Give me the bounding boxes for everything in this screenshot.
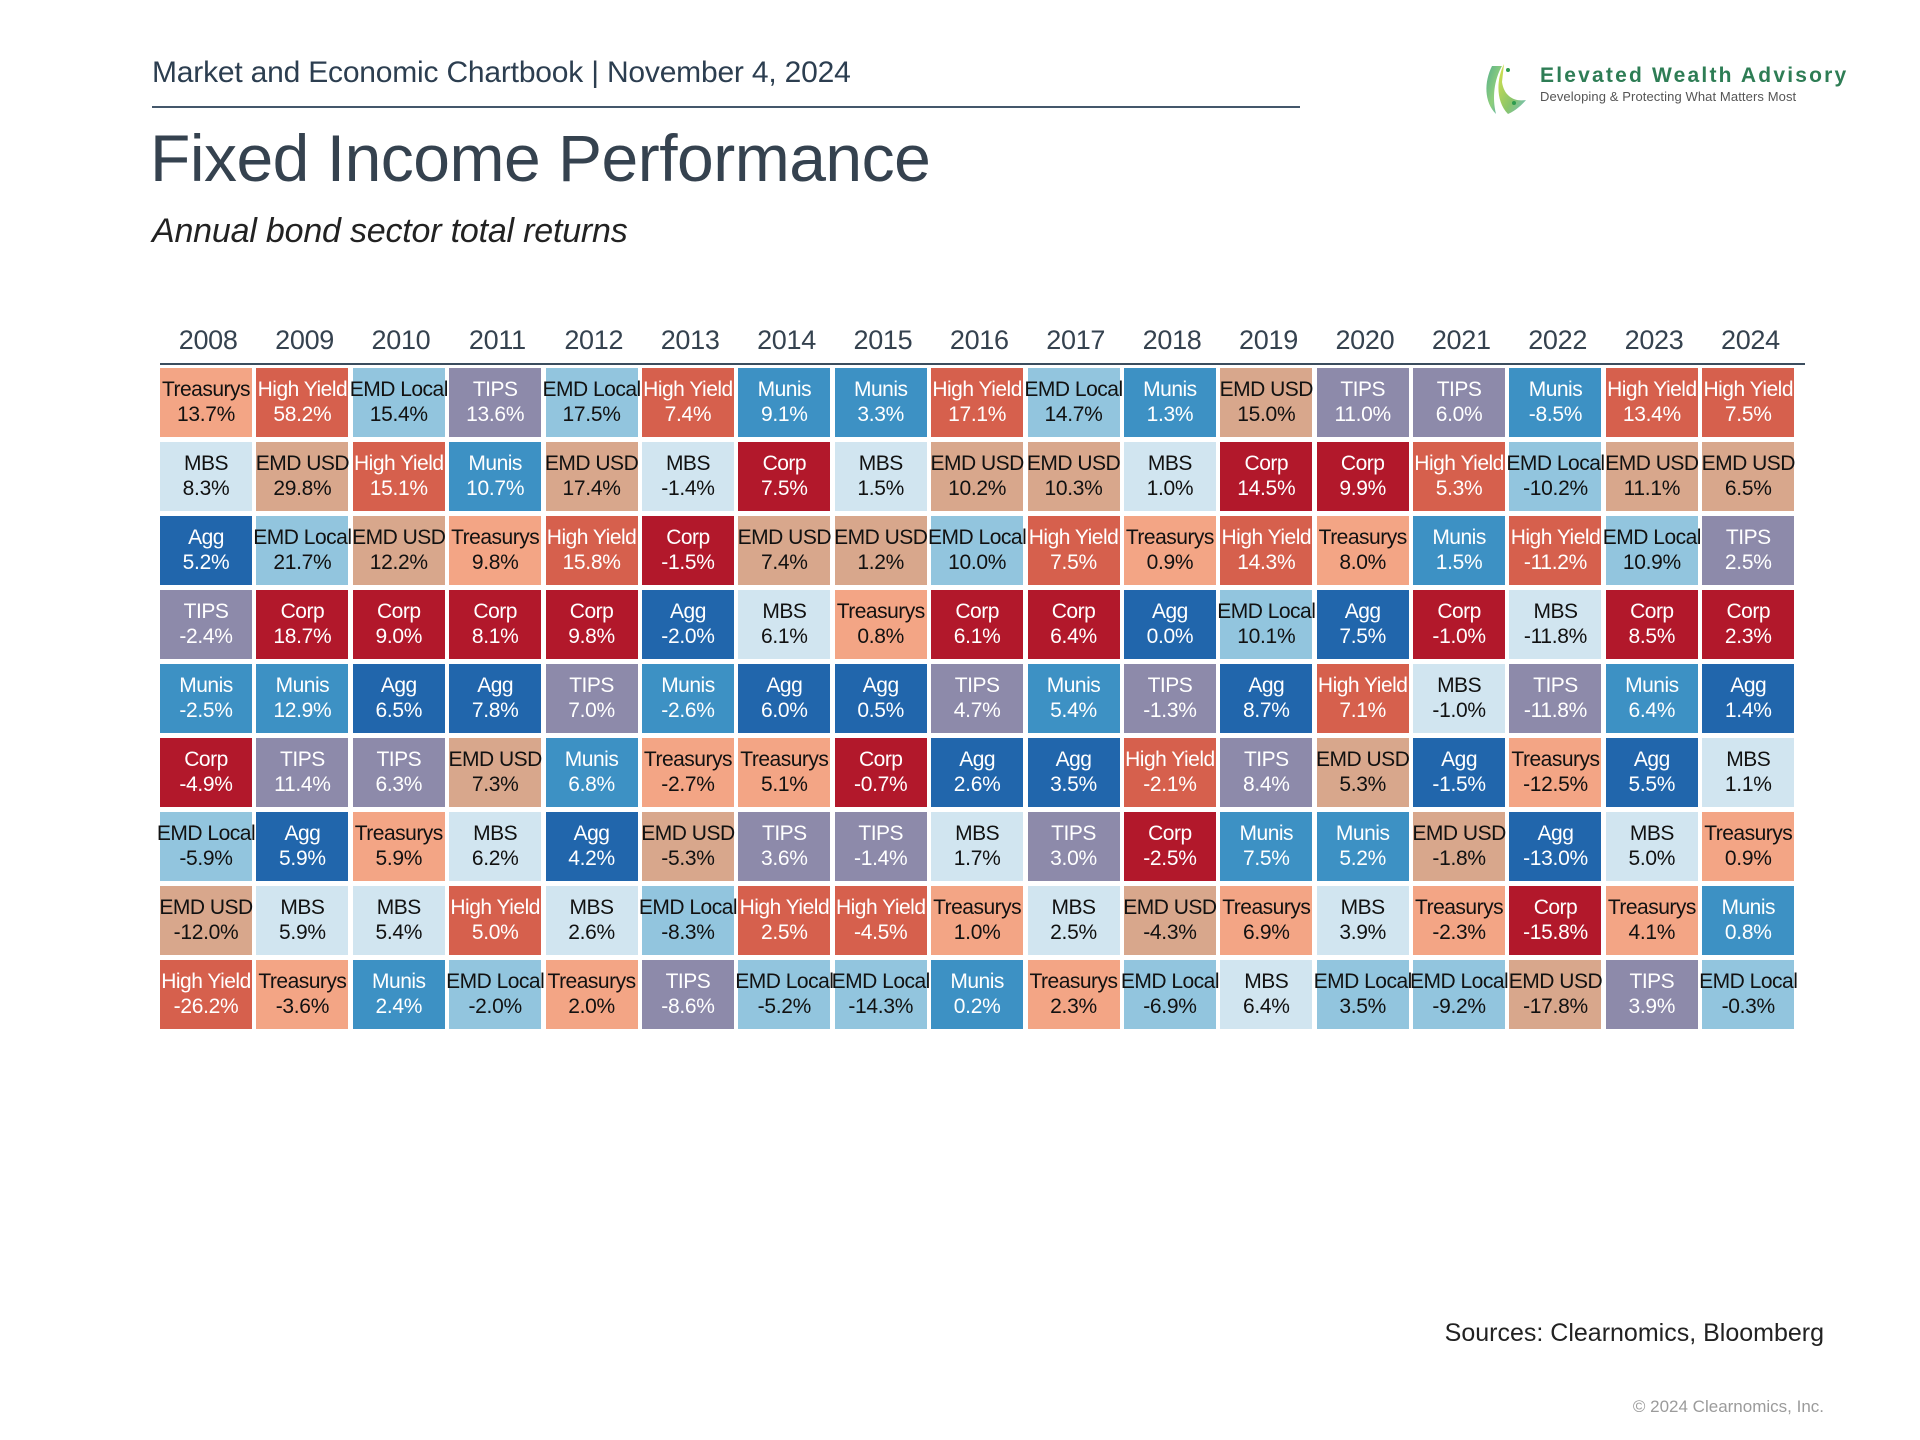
heatmap-cell[interactable]: Treasurys5.9% <box>353 812 445 881</box>
heatmap-cell[interactable]: Munis6.4% <box>1606 664 1698 733</box>
cell-sector-label: Corp <box>1726 600 1770 624</box>
cell-return-value: 4.2% <box>568 847 615 871</box>
heatmap-cell[interactable]: High Yield-26.2% <box>160 960 252 1029</box>
heatmap-cell[interactable]: Agg7.8% <box>449 664 541 733</box>
heatmap-cell[interactable]: MBS8.3% <box>160 442 252 511</box>
heatmap-cell[interactable]: Agg8.7% <box>1220 664 1312 733</box>
cell-return-value: -15.8% <box>1523 921 1588 945</box>
year-header-2018: 2018 <box>1124 325 1220 363</box>
cell-return-value: 8.4% <box>1243 773 1290 797</box>
heatmap-cell[interactable]: TIPS13.6% <box>449 368 541 437</box>
heatmap-cell[interactable]: Agg7.5% <box>1317 590 1409 659</box>
cell-return-value: -8.6% <box>661 995 714 1019</box>
heatmap-cell[interactable]: Corp6.4% <box>1028 590 1120 659</box>
heatmap-cell[interactable]: TIPS3.6% <box>738 812 830 881</box>
heatmap-cell[interactable]: Munis-2.5% <box>160 664 252 733</box>
cell-return-value: 3.3% <box>857 403 904 427</box>
cell-return-value: 4.7% <box>954 699 1001 723</box>
cell-sector-label: Corp <box>1052 600 1096 624</box>
cell-sector-label: MBS <box>666 452 710 476</box>
heatmap-cell[interactable]: TIPS-1.4% <box>835 812 927 881</box>
cell-return-value: 5.3% <box>1339 773 1386 797</box>
cell-sector-label: Munis <box>1143 378 1197 402</box>
heatmap-cell[interactable]: Treasurys4.1% <box>1606 886 1698 955</box>
cell-sector-label: Corp <box>666 526 710 550</box>
cell-sector-label: High Yield <box>1222 526 1312 550</box>
heatmap-cell[interactable]: Corp9.0% <box>353 590 445 659</box>
heatmap-cell[interactable]: TIPS3.9% <box>1606 960 1698 1029</box>
cell-sector-label: EMD USD <box>1316 748 1409 772</box>
cell-return-value: 1.0% <box>1147 477 1194 501</box>
cell-sector-label: Munis <box>950 970 1004 994</box>
cell-return-value: 6.4% <box>1050 625 1097 649</box>
cell-sector-label: EMD USD <box>1123 896 1216 920</box>
heatmap-cell[interactable]: EMD USD-17.8% <box>1509 960 1601 1029</box>
heatmap-cell[interactable]: MBS-1.4% <box>642 442 734 511</box>
year-header-2015: 2015 <box>835 325 931 363</box>
heatmap-cell[interactable]: MBS3.9% <box>1317 886 1409 955</box>
heatmap-body: Treasurys13.7%High Yield58.2%EMD Local15… <box>160 368 1820 1034</box>
cell-sector-label: MBS <box>473 822 517 846</box>
cell-return-value: 7.3% <box>472 773 519 797</box>
cell-sector-label: EMD USD <box>159 896 252 920</box>
cell-sector-label: MBS <box>1533 600 1577 624</box>
cell-return-value: 15.0% <box>1237 403 1295 427</box>
cell-sector-label: Agg <box>959 748 995 772</box>
heatmap-cell[interactable]: Treasurys2.0% <box>546 960 638 1029</box>
heatmap-row: Treasurys13.7%High Yield58.2%EMD Local15… <box>160 368 1820 442</box>
heatmap-cell[interactable]: EMD Local-5.2% <box>738 960 830 1029</box>
heatmap-cell[interactable]: Agg-2.0% <box>642 590 734 659</box>
cell-return-value: -2.4% <box>179 625 232 649</box>
cell-sector-label: Corp <box>1245 452 1289 476</box>
cell-sector-label: EMD USD <box>930 452 1023 476</box>
cell-sector-label: Treasurys <box>548 970 636 994</box>
heatmap-cell[interactable]: Treasurys0.9% <box>1702 812 1794 881</box>
cell-return-value: 7.4% <box>761 551 808 575</box>
leaf-swoosh-icon <box>1478 60 1534 118</box>
heatmap-cell[interactable]: Agg1.4% <box>1702 664 1794 733</box>
heatmap-cell[interactable]: Munis3.3% <box>835 368 927 437</box>
heatmap-cell[interactable]: MBS5.9% <box>256 886 348 955</box>
heatmap-row: TIPS-2.4%Corp18.7%Corp9.0%Corp8.1%Corp9.… <box>160 590 1820 664</box>
cell-sector-label: Treasurys <box>644 748 732 772</box>
cell-sector-label: Treasurys <box>1319 526 1407 550</box>
heatmap-cell[interactable]: MBS2.5% <box>1028 886 1120 955</box>
cell-sector-label: Munis <box>1529 378 1583 402</box>
heatmap-cell[interactable]: MBS2.6% <box>546 886 638 955</box>
cell-return-value: 0.8% <box>1725 921 1772 945</box>
heatmap-cell[interactable]: Corp-15.8% <box>1509 886 1601 955</box>
cell-sector-label: MBS <box>1630 822 1674 846</box>
heatmap-cell[interactable]: High Yield17.1% <box>931 368 1023 437</box>
heatmap-top-rule <box>160 363 1805 365</box>
heatmap-cell[interactable]: Munis12.9% <box>256 664 348 733</box>
heatmap-cell[interactable]: TIPS8.4% <box>1220 738 1312 807</box>
cell-return-value: 6.8% <box>568 773 615 797</box>
heatmap-cell[interactable]: EMD USD1.2% <box>835 516 927 585</box>
heatmap-cell[interactable]: High Yield-2.1% <box>1124 738 1216 807</box>
year-header-row: 2008200920102011201220132014201520162017… <box>160 325 1820 363</box>
heatmap-cell[interactable]: High Yield-11.2% <box>1509 516 1601 585</box>
heatmap-cell[interactable]: EMD Local10.1% <box>1220 590 1312 659</box>
heatmap-cell[interactable]: Treasurys-12.5% <box>1509 738 1601 807</box>
cell-return-value: 6.5% <box>1725 477 1772 501</box>
heatmap-cell[interactable]: MBS6.2% <box>449 812 541 881</box>
heatmap-cell[interactable]: EMD Local14.7% <box>1028 368 1120 437</box>
heatmap-cell[interactable]: High Yield13.4% <box>1606 368 1698 437</box>
heatmap-cell[interactable]: High Yield5.3% <box>1413 442 1505 511</box>
heatmap-cell[interactable]: TIPS-8.6% <box>642 960 734 1029</box>
cell-sector-label: Corp <box>1534 896 1578 920</box>
cell-return-value: 2.3% <box>1050 995 1097 1019</box>
cell-return-value: -4.5% <box>854 921 907 945</box>
heatmap-cell[interactable]: High Yield5.0% <box>449 886 541 955</box>
cell-sector-label: Treasurys <box>451 526 539 550</box>
cell-sector-label: Munis <box>468 452 522 476</box>
cell-sector-label: MBS <box>859 452 903 476</box>
heatmap-cell[interactable]: Agg2.6% <box>931 738 1023 807</box>
heatmap-cell[interactable]: Treasurys0.9% <box>1124 516 1216 585</box>
cell-sector-label: Corp <box>473 600 517 624</box>
cell-return-value: 15.8% <box>563 551 621 575</box>
heatmap-cell[interactable]: TIPS3.0% <box>1028 812 1120 881</box>
heatmap-cell[interactable]: Munis5.4% <box>1028 664 1120 733</box>
cell-sector-label: Corp <box>570 600 614 624</box>
heatmap-cell[interactable]: TIPS2.5% <box>1702 516 1794 585</box>
heatmap-cell[interactable]: EMD USD6.5% <box>1702 442 1794 511</box>
cell-return-value: -0.3% <box>1722 995 1775 1019</box>
heatmap-cell[interactable]: EMD USD-5.3% <box>642 812 734 881</box>
cell-sector-label: High Yield <box>740 896 830 920</box>
cell-return-value: -1.4% <box>854 847 907 871</box>
cell-sector-label: Corp <box>377 600 421 624</box>
heatmap-cell[interactable]: Corp14.5% <box>1220 442 1312 511</box>
cell-return-value: -1.4% <box>661 477 714 501</box>
heatmap-cell[interactable]: Corp6.1% <box>931 590 1023 659</box>
heatmap-cell[interactable]: Munis0.2% <box>931 960 1023 1029</box>
cell-sector-label: High Yield <box>1029 526 1119 550</box>
heatmap-cell[interactable]: Agg6.0% <box>738 664 830 733</box>
cell-return-value: 7.8% <box>472 699 519 723</box>
cell-return-value: -2.1% <box>1143 773 1196 797</box>
cell-sector-label: EMD Local <box>1121 970 1219 994</box>
heatmap-cell[interactable]: EMD USD29.8% <box>256 442 348 511</box>
heatmap-cell[interactable]: EMD Local-9.2% <box>1413 960 1505 1029</box>
heatmap-cell[interactable]: EMD Local10.0% <box>931 516 1023 585</box>
cell-sector-label: High Yield <box>1703 378 1793 402</box>
cell-return-value: 0.8% <box>857 625 904 649</box>
heatmap-cell[interactable]: EMD Local17.5% <box>546 368 638 437</box>
sources-text: Sources: Clearnomics, Bloomberg <box>1404 1318 1824 1349</box>
heatmap-cell[interactable]: Corp-2.5% <box>1124 812 1216 881</box>
heatmap-cell[interactable]: Agg-1.5% <box>1413 738 1505 807</box>
cell-sector-label: TIPS <box>1051 822 1096 846</box>
year-header-2024: 2024 <box>1702 325 1798 363</box>
cell-return-value: 10.0% <box>948 551 1006 575</box>
heatmap-cell[interactable]: EMD USD5.3% <box>1317 738 1409 807</box>
heatmap-cell[interactable]: Munis-2.6% <box>642 664 734 733</box>
heatmap-cell[interactable]: Munis7.5% <box>1220 812 1312 881</box>
heatmap-cell[interactable]: Treasurys-3.6% <box>256 960 348 1029</box>
heatmap-cell[interactable]: Corp-1.5% <box>642 516 734 585</box>
heatmap-cell[interactable]: Corp7.5% <box>738 442 830 511</box>
heatmap-cell[interactable]: EMD Local-6.9% <box>1124 960 1216 1029</box>
cell-sector-label: Agg <box>1538 822 1574 846</box>
heatmap-cell[interactable]: Munis1.5% <box>1413 516 1505 585</box>
year-header-2019: 2019 <box>1220 325 1316 363</box>
heatmap-cell[interactable]: EMD Local10.9% <box>1606 516 1698 585</box>
heatmap-cell[interactable]: Agg0.0% <box>1124 590 1216 659</box>
cell-return-value: 14.3% <box>1237 551 1295 575</box>
cell-return-value: 8.0% <box>1339 551 1386 575</box>
heatmap-cell[interactable]: TIPS11.0% <box>1317 368 1409 437</box>
cell-sector-label: High Yield <box>161 970 251 994</box>
page-subtitle: Annual bond sector total returns <box>152 212 628 251</box>
cell-return-value: 6.0% <box>1436 403 1483 427</box>
cell-return-value: -26.2% <box>174 995 239 1019</box>
heatmap-cell[interactable]: Munis1.3% <box>1124 368 1216 437</box>
heatmap-cell[interactable]: EMD USD-4.3% <box>1124 886 1216 955</box>
cell-return-value: 1.4% <box>1725 699 1772 723</box>
cell-sector-label: Munis <box>276 674 330 698</box>
heatmap-cell[interactable]: Agg0.5% <box>835 664 927 733</box>
heatmap-cell[interactable]: TIPS6.3% <box>353 738 445 807</box>
cell-return-value: 1.2% <box>857 551 904 575</box>
heatmap-cell[interactable]: High Yield15.8% <box>546 516 638 585</box>
heatmap-row: EMD Local-5.9%Agg5.9%Treasurys5.9%MBS6.2… <box>160 812 1820 886</box>
year-header-2016: 2016 <box>931 325 1027 363</box>
heatmap-cell[interactable]: Corp-0.7% <box>835 738 927 807</box>
heatmap-cell[interactable]: EMD USD10.2% <box>931 442 1023 511</box>
cell-return-value: 14.5% <box>1237 477 1295 501</box>
cell-return-value: 13.6% <box>466 403 524 427</box>
year-header-2022: 2022 <box>1509 325 1605 363</box>
cell-sector-label: EMD USD <box>256 452 349 476</box>
header-divider <box>152 106 1300 108</box>
cell-sector-label: High Yield <box>1511 526 1601 550</box>
heatmap-cell[interactable]: Agg5.2% <box>160 516 252 585</box>
heatmap-cell[interactable]: MBS6.1% <box>738 590 830 659</box>
heatmap-cell[interactable]: EMD USD17.4% <box>546 442 638 511</box>
cell-return-value: 1.5% <box>1436 551 1483 575</box>
heatmap-cell[interactable]: EMD USD12.2% <box>353 516 445 585</box>
heatmap-cell[interactable]: TIPS-1.3% <box>1124 664 1216 733</box>
heatmap-cell[interactable]: Treasurys5.1% <box>738 738 830 807</box>
cell-return-value: 21.7% <box>273 551 331 575</box>
year-header-2021: 2021 <box>1413 325 1509 363</box>
cell-sector-label: Treasurys <box>740 748 828 772</box>
heatmap-cell[interactable]: Agg3.5% <box>1028 738 1120 807</box>
cell-return-value: 10.9% <box>1623 551 1681 575</box>
heatmap-cell[interactable]: Corp18.7% <box>256 590 348 659</box>
cell-sector-label: High Yield <box>1607 378 1697 402</box>
heatmap-cell[interactable]: High Yield7.4% <box>642 368 734 437</box>
heatmap-cell[interactable]: EMD Local-10.2% <box>1509 442 1601 511</box>
cell-sector-label: TIPS <box>473 378 518 402</box>
heatmap-row: Corp-4.9%TIPS11.4%TIPS6.3%EMD USD7.3%Mun… <box>160 738 1820 812</box>
heatmap-cell[interactable]: High Yield7.1% <box>1317 664 1409 733</box>
heatmap-cell[interactable]: Agg5.5% <box>1606 738 1698 807</box>
heatmap-cell[interactable]: Treasurys8.0% <box>1317 516 1409 585</box>
cell-return-value: 11.4% <box>274 773 331 797</box>
cell-return-value: 3.9% <box>1629 995 1676 1019</box>
heatmap-cell[interactable]: EMD Local-5.9% <box>160 812 252 881</box>
cell-return-value: -2.6% <box>661 699 714 723</box>
cell-sector-label: MBS <box>570 896 614 920</box>
year-header-2008: 2008 <box>160 325 256 363</box>
year-header-2013: 2013 <box>642 325 738 363</box>
cell-sector-label: Treasurys <box>355 822 443 846</box>
heatmap-cell[interactable]: EMD USD11.1% <box>1606 442 1698 511</box>
heatmap-cell[interactable]: Munis-8.5% <box>1509 368 1601 437</box>
heatmap-cell[interactable]: TIPS11.4% <box>256 738 348 807</box>
cell-sector-label: Corp <box>763 452 807 476</box>
heatmap-cell[interactable]: MBS-1.0% <box>1413 664 1505 733</box>
heatmap-cell[interactable]: High Yield7.5% <box>1702 368 1794 437</box>
heatmap-cell[interactable]: Munis10.7% <box>449 442 541 511</box>
heatmap-cell[interactable]: TIPS-2.4% <box>160 590 252 659</box>
cell-return-value: 8.3% <box>183 477 230 501</box>
logo-tagline: Developing & Protecting What Matters Mos… <box>1540 89 1796 104</box>
heatmap-cell[interactable]: EMD Local-8.3% <box>642 886 734 955</box>
cell-return-value: -12.5% <box>1523 773 1588 797</box>
cell-return-value: 5.3% <box>1436 477 1483 501</box>
cell-return-value: 17.5% <box>563 403 621 427</box>
cell-return-value: 10.2% <box>948 477 1006 501</box>
heatmap-cell[interactable]: EMD USD-12.0% <box>160 886 252 955</box>
heatmap-cell[interactable]: Treasurys9.8% <box>449 516 541 585</box>
heatmap-cell[interactable]: EMD Local-0.3% <box>1702 960 1794 1029</box>
heatmap-cell[interactable]: EMD USD10.3% <box>1028 442 1120 511</box>
heatmap-cell[interactable]: Treasurys0.8% <box>835 590 927 659</box>
heatmap-cell[interactable]: Agg6.5% <box>353 664 445 733</box>
heatmap-cell[interactable]: Treasurys2.3% <box>1028 960 1120 1029</box>
year-header-2014: 2014 <box>738 325 834 363</box>
cell-sector-label: High Yield <box>1318 674 1408 698</box>
cell-return-value: 17.1% <box>948 403 1006 427</box>
heatmap-cell[interactable]: EMD USD7.4% <box>738 516 830 585</box>
cell-return-value: 12.2% <box>370 551 428 575</box>
heatmap-cell[interactable]: Corp2.3% <box>1702 590 1794 659</box>
cell-return-value: -2.0% <box>468 995 521 1019</box>
heatmap-cell[interactable]: Corp9.8% <box>546 590 638 659</box>
heatmap-cell[interactable]: TIPS6.0% <box>1413 368 1505 437</box>
cell-return-value: 2.5% <box>1725 551 1772 575</box>
heatmap-cell[interactable]: Treasurys-2.3% <box>1413 886 1505 955</box>
cell-sector-label: Munis <box>1721 896 1775 920</box>
heatmap-cell[interactable]: EMD Local-2.0% <box>449 960 541 1029</box>
cell-sector-label: Agg <box>766 674 802 698</box>
cell-sector-label: TIPS <box>858 822 903 846</box>
heatmap-cell[interactable]: MBS1.0% <box>1124 442 1216 511</box>
heatmap-row: Agg5.2%EMD Local21.7%EMD USD12.2%Treasur… <box>160 516 1820 590</box>
heatmap-cell[interactable]: Corp-4.9% <box>160 738 252 807</box>
heatmap-cell[interactable]: High Yield58.2% <box>256 368 348 437</box>
heatmap-cell[interactable]: High Yield2.5% <box>738 886 830 955</box>
heatmap-cell[interactable]: MBS1.1% <box>1702 738 1794 807</box>
heatmap-cell[interactable]: MBS1.5% <box>835 442 927 511</box>
year-header-2011: 2011 <box>449 325 545 363</box>
heatmap-cell[interactable]: EMD USD-1.8% <box>1413 812 1505 881</box>
heatmap-cell[interactable]: EMD Local21.7% <box>256 516 348 585</box>
heatmap-cell[interactable]: High Yield15.1% <box>353 442 445 511</box>
heatmap-cell[interactable]: TIPS7.0% <box>546 664 638 733</box>
cell-return-value: 6.9% <box>1243 921 1290 945</box>
heatmap-cell[interactable]: Treasurys-2.7% <box>642 738 734 807</box>
cell-sector-label: EMD USD <box>1702 452 1795 476</box>
heatmap-cell[interactable]: MBS1.7% <box>931 812 1023 881</box>
heatmap-cell[interactable]: Treasurys6.9% <box>1220 886 1312 955</box>
heatmap-cell[interactable]: Munis6.8% <box>546 738 638 807</box>
heatmap-cell[interactable]: EMD Local3.5% <box>1317 960 1409 1029</box>
heatmap-cell[interactable]: High Yield-4.5% <box>835 886 927 955</box>
cell-return-value: 5.1% <box>761 773 808 797</box>
cell-sector-label: TIPS <box>1726 526 1771 550</box>
heatmap-cell[interactable]: Munis9.1% <box>738 368 830 437</box>
cell-sector-label: Treasurys <box>1126 526 1214 550</box>
cell-sector-label: EMD Local <box>446 970 544 994</box>
heatmap-cell[interactable]: EMD USD15.0% <box>1220 368 1312 437</box>
copyright-text: © 2024 Clearnomics, Inc. <box>1404 1397 1824 1417</box>
heatmap-cell[interactable]: EMD USD7.3% <box>449 738 541 807</box>
heatmap-cell[interactable]: Agg4.2% <box>546 812 638 881</box>
heatmap-cell[interactable]: EMD Local-14.3% <box>835 960 927 1029</box>
heatmap-cell[interactable]: MBS5.0% <box>1606 812 1698 881</box>
heatmap-cell[interactable]: Munis5.2% <box>1317 812 1409 881</box>
cell-return-value: 58.2% <box>273 403 331 427</box>
cell-return-value: -1.5% <box>1432 773 1485 797</box>
cell-return-value: 5.9% <box>375 847 422 871</box>
heatmap-cell[interactable]: Corp-1.0% <box>1413 590 1505 659</box>
cell-sector-label: TIPS <box>1340 378 1385 402</box>
cell-sector-label: EMD USD <box>1412 822 1505 846</box>
heatmap-cell[interactable]: High Yield14.3% <box>1220 516 1312 585</box>
cell-return-value: -14.3% <box>848 995 913 1019</box>
cell-sector-label: MBS <box>1244 970 1288 994</box>
heatmap-cell[interactable]: Corp8.1% <box>449 590 541 659</box>
heatmap-cell[interactable]: Munis0.8% <box>1702 886 1794 955</box>
heatmap-cell[interactable]: Treasurys1.0% <box>931 886 1023 955</box>
cell-sector-label: Munis <box>661 674 715 698</box>
heatmap-cell[interactable]: MBS5.4% <box>353 886 445 955</box>
cell-sector-label: EMD USD <box>1605 452 1698 476</box>
cell-sector-label: TIPS <box>1437 378 1482 402</box>
heatmap-cell[interactable]: Treasurys13.7% <box>160 368 252 437</box>
cell-sector-label: Corp <box>184 748 228 772</box>
cell-return-value: -17.8% <box>1523 995 1588 1019</box>
heatmap-cell[interactable]: Corp8.5% <box>1606 590 1698 659</box>
heatmap-cell[interactable]: TIPS-11.8% <box>1509 664 1601 733</box>
heatmap-cell[interactable]: Agg5.9% <box>256 812 348 881</box>
heatmap-cell[interactable]: High Yield7.5% <box>1028 516 1120 585</box>
cell-sector-label: EMD Local <box>639 896 737 920</box>
heatmap-cell[interactable]: Agg-13.0% <box>1509 812 1601 881</box>
heatmap-row: MBS8.3%EMD USD29.8%High Yield15.1%Munis1… <box>160 442 1820 516</box>
year-header-2010: 2010 <box>353 325 449 363</box>
cell-return-value: 2.3% <box>1725 625 1772 649</box>
heatmap-cell[interactable]: Corp9.9% <box>1317 442 1409 511</box>
heatmap-cell[interactable]: MBS-11.8% <box>1509 590 1601 659</box>
cell-return-value: -3.6% <box>276 995 329 1019</box>
heatmap-cell[interactable]: TIPS4.7% <box>931 664 1023 733</box>
cell-return-value: 3.0% <box>1050 847 1097 871</box>
heatmap-cell[interactable]: EMD Local15.4% <box>353 368 445 437</box>
cell-sector-label: EMD Local <box>1217 600 1315 624</box>
cell-sector-label: Agg <box>477 674 513 698</box>
heatmap-cell[interactable]: Munis2.4% <box>353 960 445 1029</box>
heatmap-cell[interactable]: MBS6.4% <box>1220 960 1312 1029</box>
